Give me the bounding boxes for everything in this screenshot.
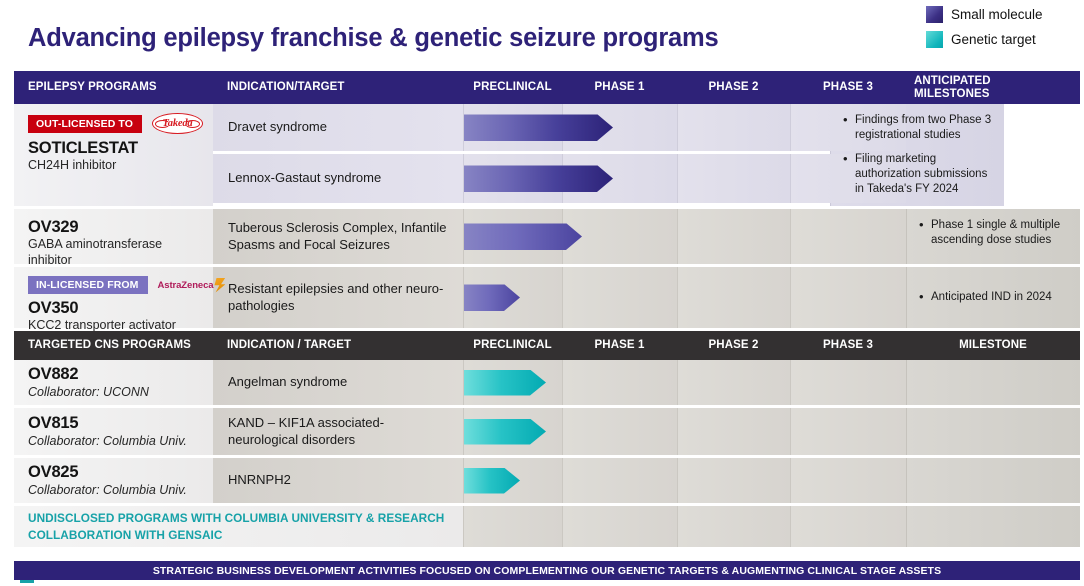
indication-ov329: Tuberous Sclerosis Complex, Infantile Sp… <box>213 209 463 264</box>
legend-label-small-molecule: Small molecule <box>951 7 1043 22</box>
header-phase-3: PHASE 3 <box>790 81 906 94</box>
undisclosed-programs-cell: UNDISCLOSED PROGRAMS WITH COLUMBIA UNIVE… <box>14 506 463 547</box>
table-row-soticlestat: OUT-LICENSED TO Takeda SOTICLESTAT CH24H… <box>14 104 1080 209</box>
header-cns-phase-3: PHASE 3 <box>790 339 906 352</box>
header-cns-milestone: MILESTONE <box>906 339 1080 352</box>
track-phase2-ov350 <box>677 267 790 328</box>
indication-lennox-gastaut-syndrome: Lennox-Gastaut syndrome <box>213 154 463 203</box>
track-phase3-ov815 <box>790 408 906 455</box>
track-preclinical-ov882 <box>463 360 562 405</box>
milestone-list-ov350: Anticipated IND in 2024 <box>919 290 1052 305</box>
track-phase3-ov882 <box>790 360 906 405</box>
header-cns-phase-1: PHASE 1 <box>562 339 677 352</box>
header-cns-phase-2: PHASE 2 <box>677 339 790 352</box>
milestone-list-soticlestat: Findings from two Phase 3 registrational… <box>843 113 994 197</box>
track-phase1-undisclosed <box>562 506 677 547</box>
legend-item-genetic-target: Genetic target <box>926 31 1076 48</box>
header-phase-2: PHASE 2 <box>677 81 790 94</box>
astrazeneca-mark-icon <box>214 278 225 293</box>
page-title: Advancing epilepsy franchise & genetic s… <box>28 24 718 53</box>
cns-table-header: TARGETED CNS PROGRAMS INDICATION / TARGE… <box>14 331 1080 360</box>
takeda-logo-icon: Takeda <box>152 113 203 134</box>
program-name-ov350: OV350 <box>28 299 203 317</box>
milestone-item: Phase 1 single & multiple ascending dose… <box>919 218 1070 248</box>
program-cell-ov825: OV825 Collaborator: Columbia Univ. <box>14 458 213 503</box>
header-targeted-cns-programs: TARGETED CNS PROGRAMS <box>14 339 213 352</box>
program-cell-ov882: OV882 Collaborator: UCONN <box>14 360 213 405</box>
small-molecule-swatch-icon <box>926 6 943 23</box>
milestone-list-ov329: Phase 1 single & multiple ascending dose… <box>919 218 1070 248</box>
track-phase1-ov882 <box>562 360 677 405</box>
program-name-soticlestat: SOTICLESTAT <box>28 139 203 157</box>
milestones-cell-ov350: Anticipated IND in 2024 <box>906 267 1080 328</box>
status-badge-in-licensed: IN-LICENSED FROM <box>28 276 148 294</box>
corner-accent-mark <box>20 580 34 583</box>
program-cell-ov329: OV329 GABA aminotransferase inhibitor <box>14 209 213 264</box>
track-preclinical-ov329 <box>463 209 562 264</box>
track-phase3-ov329 <box>790 209 906 264</box>
indication-dravet-syndrome: Dravet syndrome <box>213 104 463 151</box>
milestone-item: Findings from two Phase 3 registrational… <box>843 113 994 143</box>
milestone-item: Anticipated IND in 2024 <box>919 290 1052 305</box>
program-name-ov329: OV329 <box>28 218 203 236</box>
track-preclinical-lgs <box>463 154 562 203</box>
header-preclinical: PRECLINICAL <box>463 81 562 94</box>
indication-ov825: HNRNPH2 <box>213 458 463 503</box>
program-cell-soticlestat: OUT-LICENSED TO Takeda SOTICLESTAT CH24H… <box>14 104 213 206</box>
legend-label-genetic-target: Genetic target <box>951 32 1036 47</box>
indication-ov350: Resistant epilepsies and other neuro-pat… <box>213 267 463 328</box>
program-collaborator-ov825: Collaborator: Columbia Univ. <box>28 483 203 498</box>
astrazeneca-logo-text: AstraZeneca <box>158 280 214 291</box>
table-row-undisclosed: UNDISCLOSED PROGRAMS WITH COLUMBIA UNIVE… <box>14 506 1080 547</box>
track-phase2-ov882 <box>677 360 790 405</box>
track-preclinical-undisclosed <box>463 506 562 547</box>
track-phase1-ov350 <box>562 267 677 328</box>
program-name-ov825: OV825 <box>28 463 203 481</box>
table-row-ov329: OV329 GABA aminotransferase inhibitor Tu… <box>14 209 1080 267</box>
soticlestat-indication-stack: Dravet syndrome Lennox-Gastaut syndrome <box>213 104 830 206</box>
program-cell-ov815: OV815 Collaborator: Columbia Univ. <box>14 408 213 455</box>
header-anticipated-milestones: ANTICIPATEDMILESTONES <box>906 75 1080 100</box>
track-phase3-ov825 <box>790 458 906 503</box>
program-name-ov882: OV882 <box>28 365 203 383</box>
strategic-business-banner: STRATEGIC BUSINESS DEVELOPMENT ACTIVITIE… <box>14 561 1080 580</box>
milestones-cell-ov815 <box>906 408 1080 455</box>
indication-ov815: KAND – KIF1A associated-neurological dis… <box>213 408 463 455</box>
track-phase3-ov350 <box>790 267 906 328</box>
track-preclinical-dravet <box>463 104 562 151</box>
astrazeneca-logo-icon: AstraZeneca <box>158 278 226 293</box>
header-cns-indication-target: INDICATION / TARGET <box>213 339 463 352</box>
legend-item-small-molecule: Small molecule <box>926 6 1076 23</box>
table-row-ov815: OV815 Collaborator: Columbia Univ. KAND … <box>14 408 1080 458</box>
undisclosed-programs-text: UNDISCLOSED PROGRAMS WITH COLUMBIA UNIVE… <box>28 510 453 544</box>
program-name-ov815: OV815 <box>28 414 203 432</box>
milestones-cell-undisclosed <box>906 506 1080 547</box>
indication-ov882: Angelman syndrome <box>213 360 463 405</box>
table-subrow-lennox-gastaut: Lennox-Gastaut syndrome <box>213 154 830 203</box>
status-badge-out-licensed: OUT-LICENSED TO <box>28 115 142 133</box>
table-row-ov350: IN-LICENSED FROM AstraZeneca OV350 KCC2 … <box>14 267 1080 331</box>
badge-line-ov350: IN-LICENSED FROM AstraZeneca <box>28 276 203 294</box>
track-phase2-ov825 <box>677 458 790 503</box>
pipeline-table: EPILEPSY PROGRAMS INDICATION/TARGET PREC… <box>14 71 1080 547</box>
milestones-cell-ov882 <box>906 360 1080 405</box>
takeda-logo-text: Takeda <box>163 118 193 129</box>
program-cell-ov350: IN-LICENSED FROM AstraZeneca OV350 KCC2 … <box>14 267 213 328</box>
epilepsy-table-header: EPILEPSY PROGRAMS INDICATION/TARGET PREC… <box>14 71 1080 104</box>
genetic-target-swatch-icon <box>926 31 943 48</box>
badge-line-soticlestat: OUT-LICENSED TO Takeda <box>28 113 203 134</box>
track-phase1-ov329 <box>562 209 677 264</box>
legend: Small molecule Genetic target <box>926 6 1076 48</box>
track-phase2-undisclosed <box>677 506 790 547</box>
program-collaborator-ov815: Collaborator: Columbia Univ. <box>28 434 203 449</box>
track-preclinical-ov350 <box>463 267 562 328</box>
program-sub-soticlestat: CH24H inhibitor <box>28 158 203 173</box>
track-phase2-ov815 <box>677 408 790 455</box>
header-phase-1: PHASE 1 <box>562 81 677 94</box>
track-phase1-lgs <box>562 154 677 203</box>
milestone-item: Filing marketing authorization submissio… <box>843 152 994 197</box>
table-row-ov882: OV882 Collaborator: UCONN Angelman syndr… <box>14 360 1080 408</box>
track-phase2-lgs <box>677 154 790 203</box>
track-phase1-dravet <box>562 104 677 151</box>
table-subrow-dravet: Dravet syndrome <box>213 104 830 154</box>
milestones-cell-soticlestat: Findings from two Phase 3 registrational… <box>830 104 1004 206</box>
program-sub-ov329: GABA aminotransferase inhibitor <box>28 237 203 268</box>
track-phase1-ov825 <box>562 458 677 503</box>
track-phase2-ov329 <box>677 209 790 264</box>
track-phase1-ov815 <box>562 408 677 455</box>
track-preclinical-ov815 <box>463 408 562 455</box>
track-phase2-dravet <box>677 104 790 151</box>
header-cns-preclinical: PRECLINICAL <box>463 339 562 352</box>
header-indication-target: INDICATION/TARGET <box>213 81 463 94</box>
milestones-cell-ov825 <box>906 458 1080 503</box>
table-row-ov825: OV825 Collaborator: Columbia Univ. HNRNP… <box>14 458 1080 506</box>
track-preclinical-ov825 <box>463 458 562 503</box>
track-phase3-undisclosed <box>790 506 906 547</box>
milestones-cell-ov329: Phase 1 single & multiple ascending dose… <box>906 209 1080 264</box>
program-collaborator-ov882: Collaborator: UCONN <box>28 385 203 400</box>
header-epilepsy-programs: EPILEPSY PROGRAMS <box>14 81 213 94</box>
